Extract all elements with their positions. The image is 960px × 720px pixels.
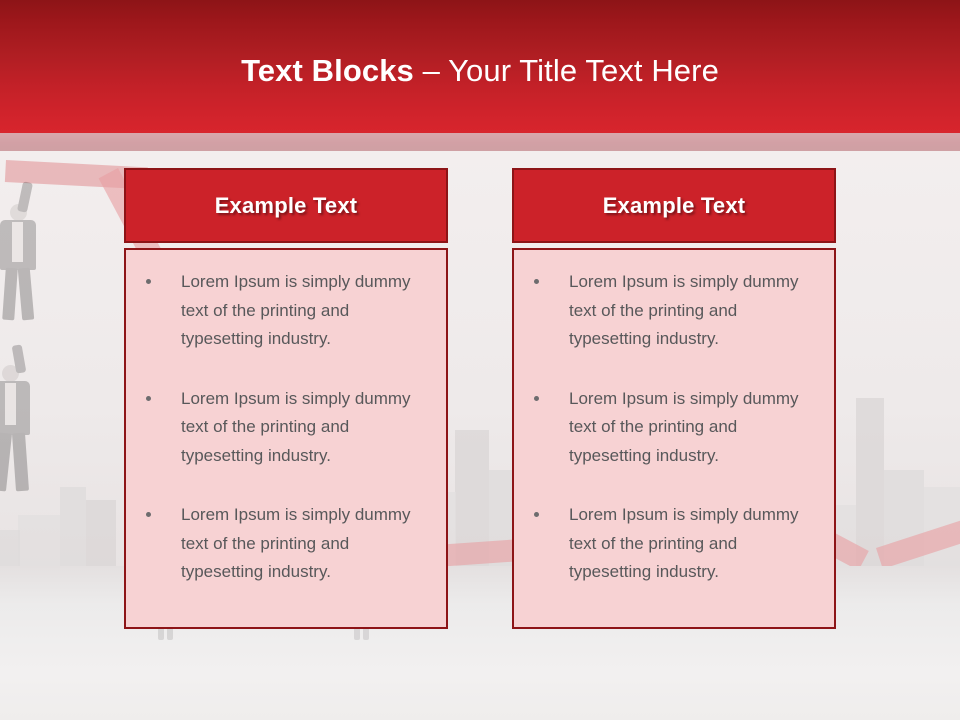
panel-header-label: Example Text bbox=[603, 193, 746, 219]
list-item: Lorem Ipsum is simply dummy text of the … bbox=[524, 268, 820, 354]
bullet-dot-icon bbox=[534, 279, 539, 284]
list-item: Lorem Ipsum is simply dummy text of the … bbox=[136, 268, 432, 354]
page-title-separator: – bbox=[414, 53, 448, 88]
bullet-dot-icon bbox=[534, 396, 539, 401]
skyline-building bbox=[86, 500, 116, 567]
text-block-panel-left[interactable]: Example Text Lorem Ipsum is simply dummy… bbox=[124, 168, 448, 629]
skyline-building bbox=[18, 515, 60, 567]
bullet-list-left: Lorem Ipsum is simply dummy text of the … bbox=[136, 268, 432, 587]
text-block-panel-right[interactable]: Example Text Lorem Ipsum is simply dummy… bbox=[512, 168, 836, 629]
title-banner-accent-strip bbox=[0, 133, 960, 151]
panel-header-left[interactable]: Example Text bbox=[124, 168, 448, 243]
bullet-list-right: Lorem Ipsum is simply dummy text of the … bbox=[524, 268, 820, 587]
page-title-strong: Text Blocks bbox=[241, 53, 414, 88]
page-title-light: Your Title Text Here bbox=[448, 53, 719, 88]
list-item-text: Lorem Ipsum is simply dummy text of the … bbox=[181, 272, 411, 348]
slide-canvas: Text Blocks – Your Title Text Here Examp… bbox=[0, 0, 960, 720]
person-silhouette bbox=[0, 182, 62, 322]
panel-body-right: Lorem Ipsum is simply dummy text of the … bbox=[512, 248, 836, 629]
bullet-dot-icon bbox=[146, 279, 151, 284]
list-item: Lorem Ipsum is simply dummy text of the … bbox=[524, 501, 820, 587]
skyline-building bbox=[856, 398, 884, 567]
panel-body-left: Lorem Ipsum is simply dummy text of the … bbox=[124, 248, 448, 629]
list-item-text: Lorem Ipsum is simply dummy text of the … bbox=[569, 505, 799, 581]
list-item-text: Lorem Ipsum is simply dummy text of the … bbox=[181, 389, 411, 465]
list-item-text: Lorem Ipsum is simply dummy text of the … bbox=[569, 389, 799, 465]
list-item: Lorem Ipsum is simply dummy text of the … bbox=[136, 501, 432, 587]
list-item: Lorem Ipsum is simply dummy text of the … bbox=[136, 385, 432, 471]
bullet-dot-icon bbox=[534, 512, 539, 517]
list-item-text: Lorem Ipsum is simply dummy text of the … bbox=[181, 505, 411, 581]
bullet-dot-icon bbox=[146, 396, 151, 401]
panel-header-right[interactable]: Example Text bbox=[512, 168, 836, 243]
skyline-building bbox=[0, 530, 20, 567]
list-item-text: Lorem Ipsum is simply dummy text of the … bbox=[569, 272, 799, 348]
panel-header-label: Example Text bbox=[215, 193, 358, 219]
person-silhouette bbox=[0, 345, 64, 495]
page-title: Text Blocks – Your Title Text Here bbox=[0, 52, 960, 90]
bullet-dot-icon bbox=[146, 512, 151, 517]
list-item: Lorem Ipsum is simply dummy text of the … bbox=[524, 385, 820, 471]
skyline-building bbox=[60, 487, 86, 567]
